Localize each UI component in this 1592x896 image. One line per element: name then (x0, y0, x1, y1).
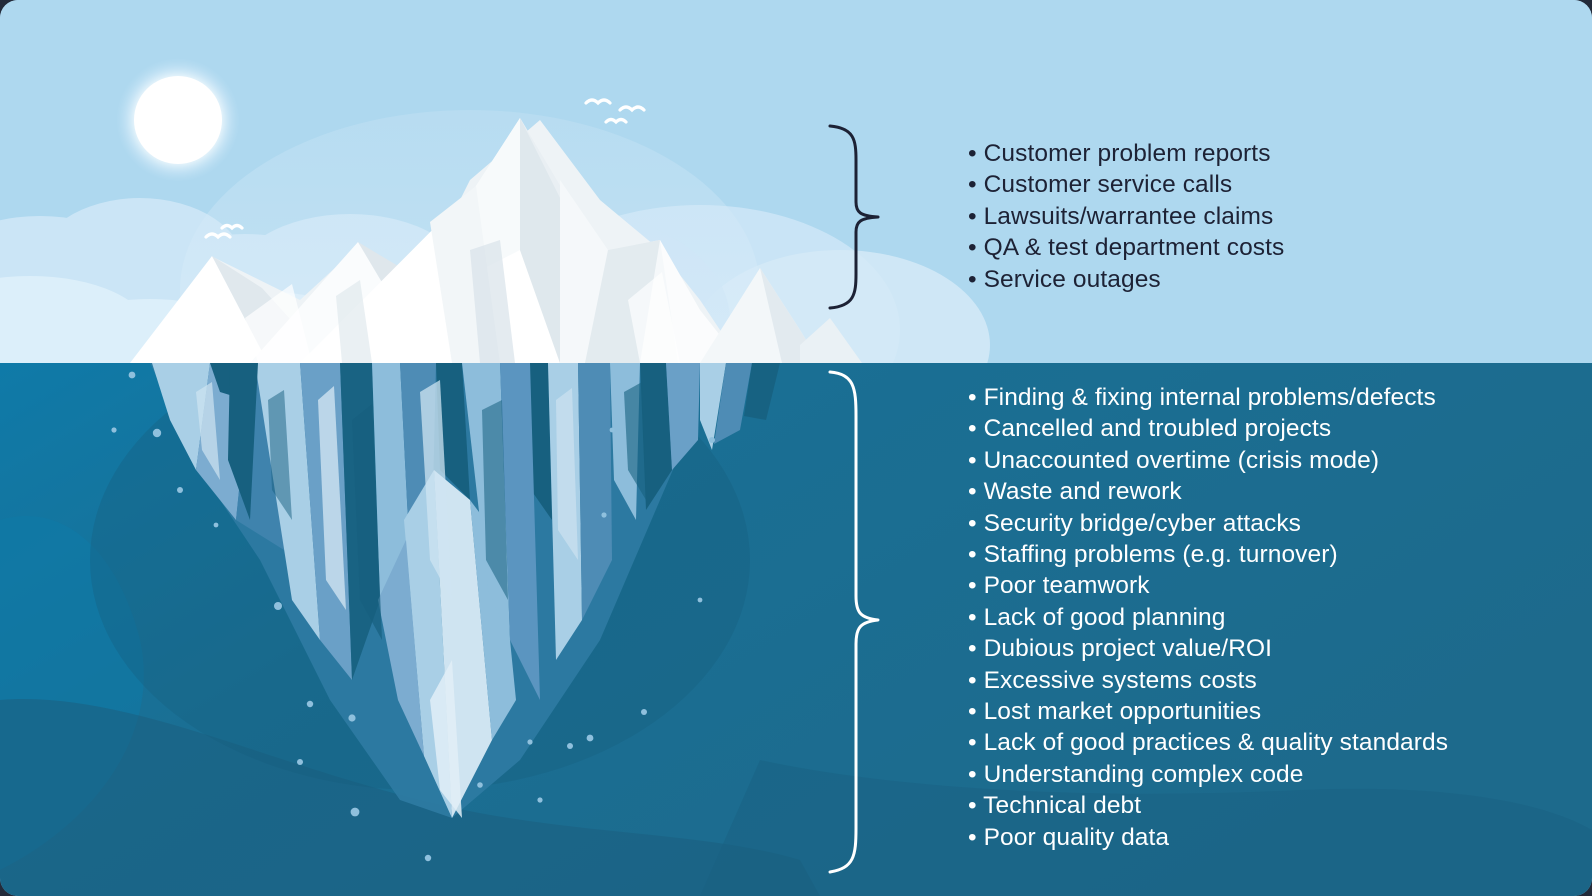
list-item: • Understanding complex code (968, 759, 1588, 790)
list-item: • Dubious project value/ROI (968, 633, 1588, 664)
list-item: • Lack of good practices & quality stand… (968, 727, 1588, 758)
list-item: • Security bridge/cyber attacks (968, 508, 1588, 539)
above-water-cost-list: • Customer problem reports • Customer se… (968, 138, 1568, 295)
list-item: • Lawsuits/warrantee claims (968, 201, 1568, 232)
list-item: • Finding & fixing internal problems/def… (968, 382, 1588, 413)
list-item: • Lack of good planning (968, 602, 1588, 633)
list-item: • Customer service calls (968, 169, 1568, 200)
list-item: • Cancelled and troubled projects (968, 413, 1588, 444)
iceberg-diagram: • Customer problem reports • Customer se… (0, 0, 1592, 896)
list-item: • Lost market opportunities (968, 696, 1588, 727)
list-item: • Service outages (968, 264, 1568, 295)
list-item: • Staffing problems (e.g. turnover) (968, 539, 1588, 570)
list-item: • Technical debt (968, 790, 1588, 821)
list-item: • Poor quality data (968, 822, 1588, 853)
list-item: • Poor teamwork (968, 570, 1588, 601)
list-item: • Unaccounted overtime (crisis mode) (968, 445, 1588, 476)
list-item: • Waste and rework (968, 476, 1588, 507)
below-water-cost-list: • Finding & fixing internal problems/def… (968, 382, 1588, 853)
sun-icon (116, 58, 240, 182)
list-item: • Customer problem reports (968, 138, 1568, 169)
list-item: • Excessive systems costs (968, 665, 1588, 696)
list-item: • QA & test department costs (968, 232, 1568, 263)
curly-brace-icon (826, 368, 888, 876)
curly-brace-icon (826, 122, 888, 312)
